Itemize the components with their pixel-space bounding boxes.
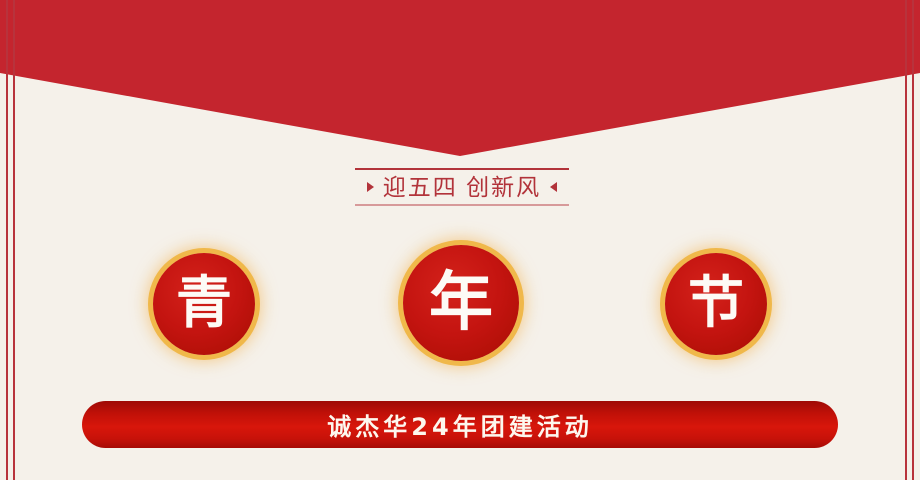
subtitle-row: 迎五四 创新风 bbox=[355, 170, 569, 204]
badge-nian: 年 bbox=[403, 245, 519, 361]
subtitle-rule-bottom bbox=[355, 204, 569, 206]
badge-qing-char: 青 bbox=[176, 276, 232, 332]
badge-qing: 青 bbox=[153, 253, 255, 355]
event-title-banner: 诚杰华24年团建活动 bbox=[82, 401, 838, 448]
badge-nian-char: 年 bbox=[429, 271, 493, 335]
event-title-text: 诚杰华24年团建活动 bbox=[327, 407, 592, 442]
red-chevron-banner bbox=[0, 0, 920, 156]
youth-day-poster: 迎五四 创新风 青 年 节 诚杰华24年团建活动 bbox=[0, 0, 920, 480]
badge-jie: 节 bbox=[665, 253, 767, 355]
badge-group: 青 年 节 bbox=[0, 232, 920, 378]
subtitle-text: 迎五四 创新风 bbox=[383, 176, 541, 199]
triangle-right-icon bbox=[367, 182, 374, 192]
triangle-left-icon bbox=[550, 182, 557, 192]
subtitle-block: 迎五四 创新风 bbox=[355, 168, 569, 206]
badge-jie-char: 节 bbox=[688, 276, 744, 332]
